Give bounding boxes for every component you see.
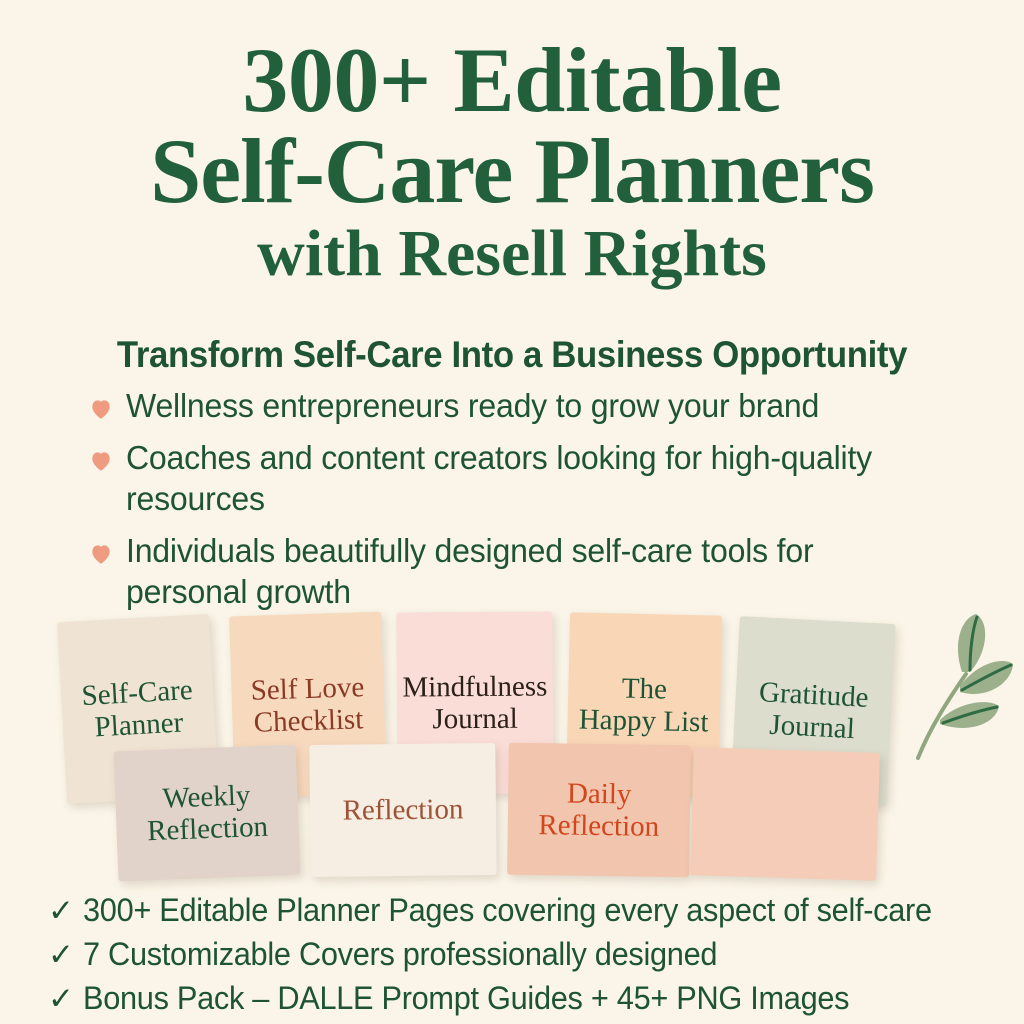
- planner-card-label: Gratitude Journal: [751, 675, 876, 746]
- heart-icon: [88, 541, 114, 567]
- planner-card-label: Weekly Reflection: [139, 778, 274, 848]
- planner-card-label: Self Love Checklist: [244, 671, 372, 740]
- planner-card-label: Mindfulness Journal: [396, 670, 553, 736]
- headline-line-3: with Resell Rights: [0, 222, 1024, 286]
- check-icon: ✓: [48, 893, 74, 929]
- planner-card-weekly-reflection[interactable]: Weekly Reflection: [114, 745, 301, 882]
- list-item: ✓ 7 Customizable Covers professionally d…: [48, 936, 1008, 973]
- planner-card-label: Reflection: [336, 793, 469, 827]
- list-item-label: Wellness entrepreneurs ready to grow you…: [126, 386, 819, 427]
- audience-bullet-list: Wellness entrepreneurs ready to grow you…: [88, 386, 968, 624]
- check-icon: ✓: [48, 981, 74, 1017]
- heart-icon: [88, 448, 114, 474]
- page-title: 300+ Editable Self-Care Planners with Re…: [0, 36, 1024, 286]
- planner-card-label: Daily Reflection: [532, 777, 666, 844]
- promo-graphic: 300+ Editable Self-Care Planners with Re…: [0, 0, 1024, 1024]
- list-item-label: 7 Customizable Covers professionally des…: [83, 936, 717, 973]
- list-item: ✓ Bonus Pack – DALLE Prompt Guides + 45+…: [48, 980, 1008, 1017]
- leaf-sprig-icon: [900, 608, 1020, 778]
- list-item: Coaches and content creators looking for…: [88, 438, 968, 520]
- list-item: Wellness entrepreneurs ready to grow you…: [88, 386, 968, 427]
- list-item: ✓ 300+ Editable Planner Pages covering e…: [48, 892, 1008, 929]
- list-item-label: Coaches and content creators looking for…: [126, 438, 902, 520]
- list-item-label: 300+ Editable Planner Pages covering eve…: [83, 892, 932, 929]
- planner-card-reflection[interactable]: Reflection: [309, 743, 496, 877]
- list-item-label: Bonus Pack – DALLE Prompt Guides + 45+ P…: [83, 980, 849, 1017]
- planner-card-blank[interactable]: [690, 747, 880, 881]
- headline-line-1: 300+ Editable: [0, 36, 1024, 125]
- headline-line-2: Self-Care Planners: [0, 127, 1024, 216]
- planner-cover-gallery: Self-Care Planner Self Love Checklist Mi…: [0, 600, 1024, 900]
- check-icon: ✓: [48, 937, 74, 973]
- heart-icon: [88, 396, 114, 422]
- planner-card-label: Self-Care Planner: [75, 673, 202, 745]
- subheading: Transform Self-Care Into a Business Oppo…: [31, 334, 994, 376]
- feature-checklist: ✓ 300+ Editable Planner Pages covering e…: [48, 892, 1008, 1024]
- planner-card-daily-reflection[interactable]: Daily Reflection: [507, 743, 691, 878]
- planner-card-label: The Happy List: [572, 671, 715, 739]
